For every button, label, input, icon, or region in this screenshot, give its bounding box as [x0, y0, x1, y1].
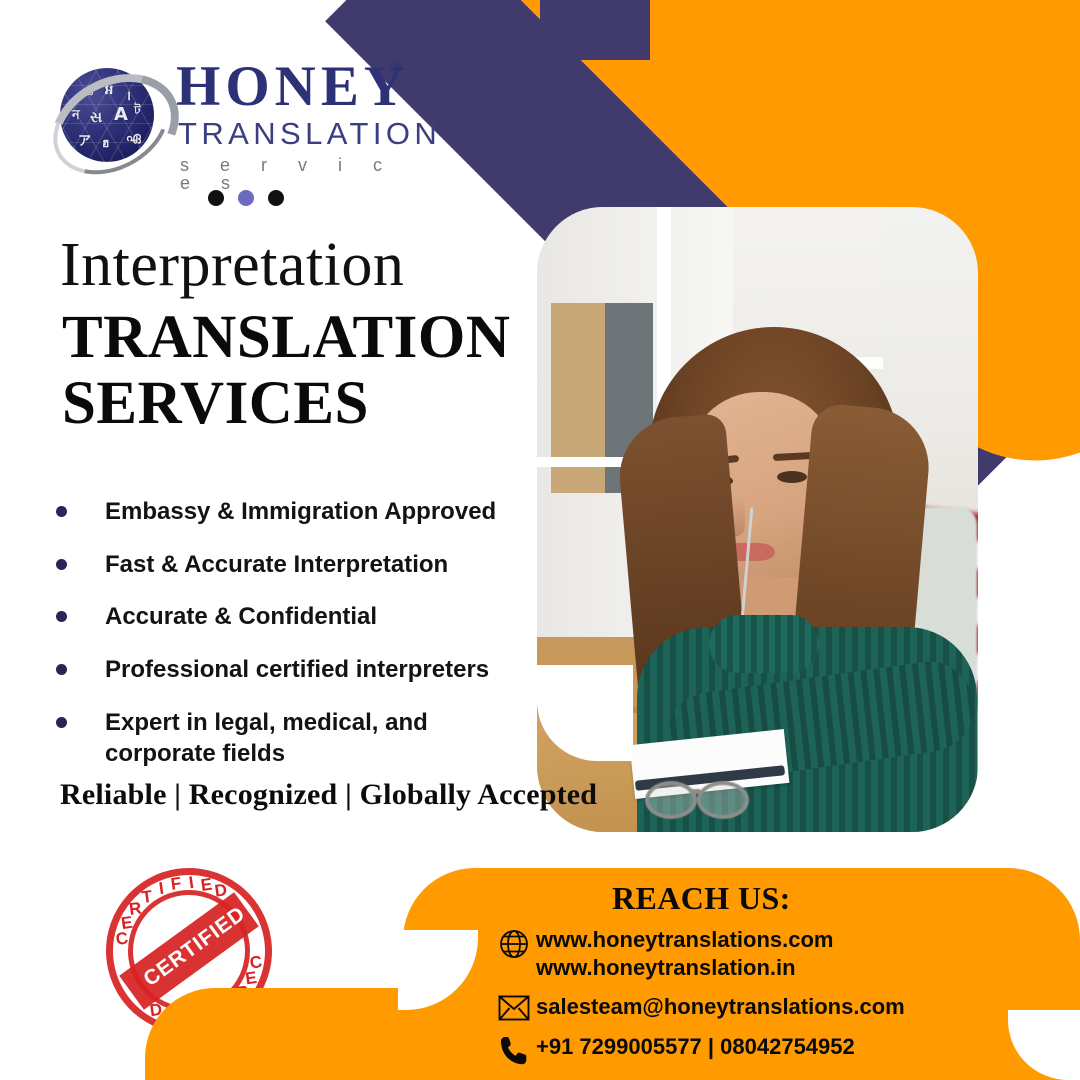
- website-secondary[interactable]: www.honeytranslation.in: [536, 954, 833, 982]
- list-item-label: Embassy & Immigration Approved: [105, 496, 496, 528]
- headline-main: TRANSLATION SERVICES: [62, 305, 510, 437]
- headline-script: Interpretation: [60, 234, 404, 296]
- contact-list: www.honeytranslations.com www.honeytrans…: [492, 926, 1052, 1079]
- envelope-icon: [492, 993, 536, 1021]
- dot-1: [208, 190, 224, 206]
- logo-wordmark: HONEY: [176, 58, 410, 115]
- tagline: Reliable | Recognized | Globally Accepte…: [60, 778, 597, 812]
- list-item-label: Professional certified interpreters: [105, 654, 489, 686]
- contact-heading: REACH US:: [612, 880, 791, 917]
- logo-dots: [208, 190, 284, 206]
- bullet-dot-icon: [56, 717, 67, 728]
- list-item: Expert in legal, medical, and corporate …: [56, 707, 526, 770]
- phone-icon: [492, 1033, 536, 1067]
- headline-main-line2: SERVICES: [62, 371, 510, 437]
- bullet-dot-icon: [56, 664, 67, 675]
- contact-row-phone[interactable]: +91 7299005577 | 08042754952: [492, 1033, 1052, 1067]
- decorative-purple-top-fill: [540, 0, 650, 60]
- logo-line-services: s e r v i c e s: [180, 156, 412, 192]
- contact-row-website[interactable]: www.honeytranslations.com www.honeytrans…: [492, 926, 1052, 981]
- bullet-dot-icon: [56, 611, 67, 622]
- website-primary[interactable]: www.honeytranslations.com: [536, 926, 833, 954]
- registered-mark-icon: ®: [390, 58, 403, 78]
- list-item-label: Fast & Accurate Interpretation: [105, 549, 448, 581]
- phone-number[interactable]: +91 7299005577 | 08042754952: [536, 1033, 855, 1061]
- headline-main-line1: TRANSLATION: [62, 305, 510, 371]
- dot-3: [268, 190, 284, 206]
- feature-list: Embassy & Immigration Approved Fast & Ac…: [56, 496, 526, 791]
- contact-row-email[interactable]: salesteam@honeytranslations.com: [492, 993, 1052, 1021]
- turtleneck-collar: [709, 615, 819, 673]
- decorative-orange-top-fill: [648, 0, 1080, 120]
- poster-canvas: க អ । ন સ A ট ア ฮ ഏ HONEY ® TRANSLATION …: [0, 0, 1080, 1080]
- bullet-dot-icon: [56, 506, 67, 517]
- bullet-dot-icon: [56, 559, 67, 570]
- list-item-label: Accurate & Confidential: [105, 601, 377, 633]
- list-item: Fast & Accurate Interpretation: [56, 549, 526, 581]
- eyeglasses-icon: [645, 777, 765, 813]
- dot-2: [238, 190, 254, 206]
- eye-right: [777, 471, 807, 483]
- logo-line-translation: TRANSLATION: [178, 118, 441, 149]
- email-address[interactable]: salesteam@honeytranslations.com: [536, 993, 905, 1021]
- globe-icon: [492, 926, 536, 960]
- list-item: Embassy & Immigration Approved: [56, 496, 526, 528]
- brand-logo: க អ । ন સ A ট ア ฮ ഏ HONEY ® TRANSLATION …: [52, 52, 412, 177]
- list-item-label: Expert in legal, medical, and corporate …: [105, 707, 445, 770]
- globe-languages-icon: க អ । ন સ A ট ア ฮ ഏ: [52, 62, 162, 167]
- list-item: Accurate & Confidential: [56, 601, 526, 633]
- list-item: Professional certified interpreters: [56, 654, 526, 686]
